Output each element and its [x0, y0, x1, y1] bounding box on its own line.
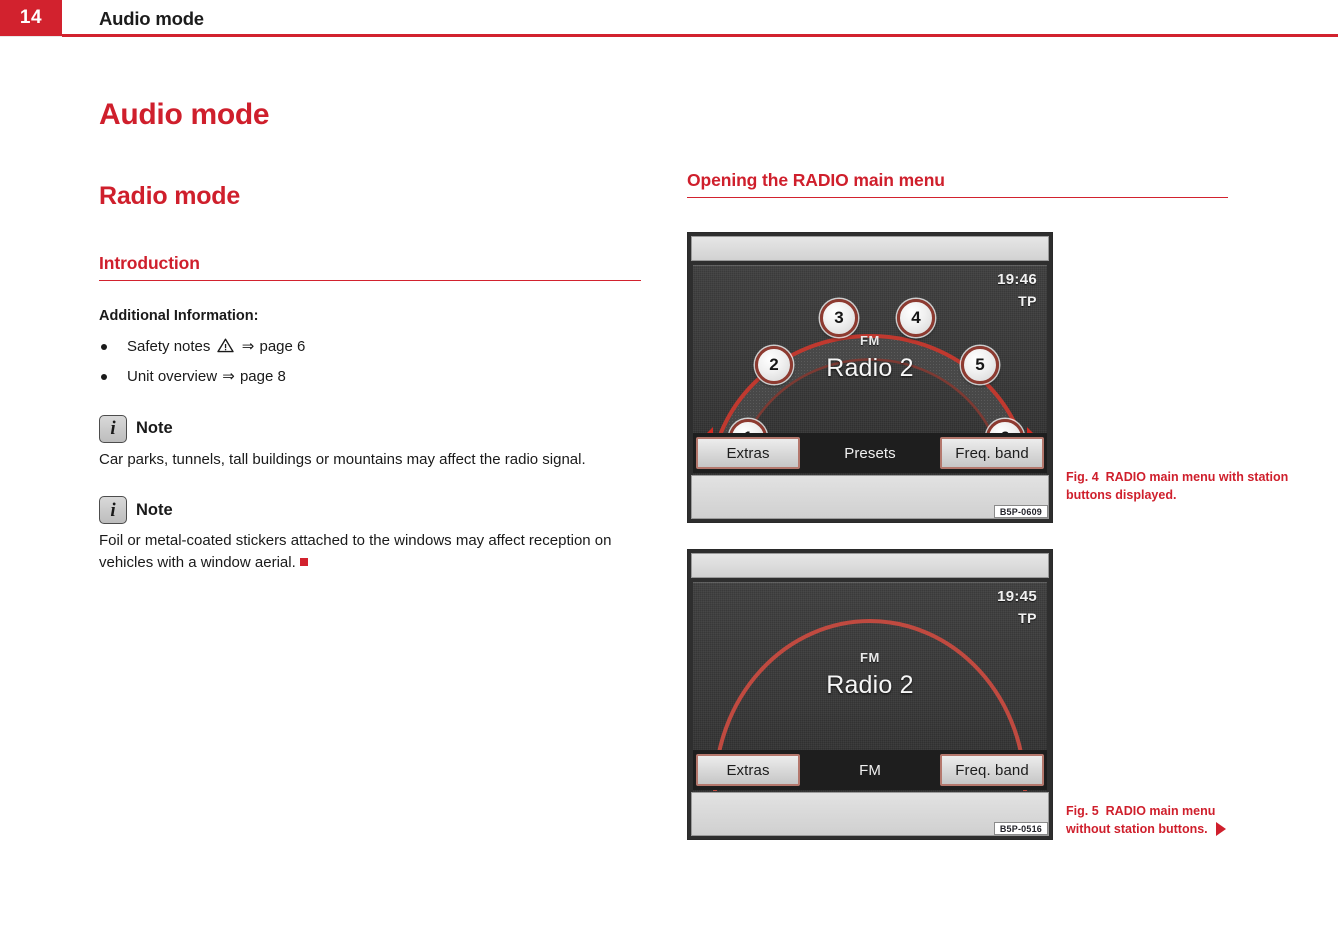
- info-note-icon: i: [99, 496, 127, 524]
- subsection-title-introduction: Introduction: [99, 255, 641, 281]
- preset-button-3[interactable]: 3: [820, 299, 858, 337]
- tp-indicator: TP: [1018, 610, 1037, 626]
- list-item: Safety notes ⇒ page 6: [99, 335, 647, 360]
- figure-radio-main-menu-without-presets: 19:45 TP FM Radio 2 Extras FM Freq. band…: [687, 549, 1053, 840]
- subsection-title-opening-radio-main-menu: Opening the RADIO main menu: [687, 172, 1228, 198]
- figure-radio-main-menu-with-presets: 19:46 TP FM Radio 2 1 2 3 4 5 6 Extras P…: [687, 232, 1053, 523]
- right-column: Opening the RADIO main menu: [687, 172, 1247, 198]
- section-title: Radio mode: [99, 184, 647, 209]
- radio-device-bezel: 19:46 TP FM Radio 2 1 2 3 4 5 6 Extras P…: [687, 232, 1053, 523]
- section-end-marker-icon: [300, 558, 308, 566]
- figure-caption-text-line2: without station buttons.: [1066, 822, 1208, 836]
- chapter-title: Audio mode: [99, 100, 647, 130]
- additional-information-label: Additional Information:: [99, 307, 647, 327]
- list-item: Unit overview ⇒ page 8: [99, 365, 647, 388]
- bullet-text: Safety notes: [127, 338, 210, 355]
- band-label: FM: [693, 333, 1047, 348]
- page-number-badge: 14: [0, 0, 62, 36]
- preset-button-2[interactable]: 2: [755, 346, 793, 384]
- soft-button-freq-band[interactable]: Freq. band: [940, 437, 1044, 469]
- header-rule: [62, 34, 1338, 37]
- note-label: Note: [136, 501, 173, 520]
- band-label: FM: [693, 650, 1047, 665]
- figure-code-tag: B5P-0609: [994, 505, 1048, 518]
- bullet-dot-icon: [101, 344, 107, 350]
- soft-button-freq-band[interactable]: Freq. band: [940, 754, 1044, 786]
- soft-bar-center-label: Presets: [803, 445, 937, 462]
- note-heading: i Note: [99, 496, 647, 524]
- continuation-arrow-icon: [1216, 822, 1226, 836]
- soft-button-bar: Extras FM Freq. band: [693, 750, 1047, 790]
- bullet-dot-icon: [101, 374, 107, 380]
- tp-indicator: TP: [1018, 293, 1037, 309]
- note-heading: i Note: [99, 415, 647, 443]
- figure-code-tag: B5P-0516: [994, 822, 1048, 835]
- warning-triangle-icon: [217, 337, 234, 360]
- preset-button-5[interactable]: 5: [961, 346, 999, 384]
- note-body: Foil or metal-coated stickers attached t…: [99, 530, 647, 574]
- double-arrow-icon: ⇒: [241, 338, 256, 355]
- note-block-2: i Note Foil or metal-coated stickers att…: [99, 496, 647, 574]
- figure-caption-5: Fig. 5RADIO main menu without station bu…: [1066, 802, 1316, 838]
- note-body-text: Foil or metal-coated stickers attached t…: [99, 532, 611, 571]
- note-body: Car parks, tunnels, tall buildings or mo…: [99, 449, 647, 471]
- figure-caption-4: Fig. 4RADIO main menu with station butto…: [1066, 468, 1316, 504]
- double-arrow-icon: ⇒: [221, 368, 236, 385]
- preset-button-4[interactable]: 4: [897, 299, 935, 337]
- clock-display: 19:45: [997, 588, 1037, 605]
- figure-caption-text: RADIO main menu with station buttons dis…: [1066, 470, 1288, 502]
- station-name-display: Radio 2: [693, 671, 1047, 700]
- figure-number: Fig. 4: [1066, 470, 1099, 484]
- figure-number: Fig. 5: [1066, 804, 1099, 818]
- figure-caption-text-line1: RADIO main menu: [1106, 804, 1216, 818]
- bullet-page-reference[interactable]: page 6: [259, 338, 305, 355]
- additional-information-list: Safety notes ⇒ page 6 Unit overview ⇒ pa…: [99, 335, 647, 389]
- left-column: Audio mode Radio mode Introduction Addit…: [99, 100, 647, 574]
- soft-button-extras[interactable]: Extras: [696, 754, 800, 786]
- bullet-page-reference[interactable]: page 8: [240, 368, 286, 385]
- info-note-icon: i: [99, 415, 127, 443]
- soft-bar-center-label: FM: [803, 762, 937, 779]
- soft-button-extras[interactable]: Extras: [696, 437, 800, 469]
- device-top-strip: [691, 553, 1049, 578]
- radio-device-bezel: 19:45 TP FM Radio 2 Extras FM Freq. band…: [687, 549, 1053, 840]
- running-header-title: Audio mode: [99, 8, 204, 30]
- device-top-strip: [691, 236, 1049, 261]
- note-block-1: i Note Car parks, tunnels, tall building…: [99, 415, 647, 471]
- soft-button-bar: Extras Presets Freq. band: [693, 433, 1047, 473]
- page-header: 14 Audio mode: [0, 0, 1338, 38]
- clock-display: 19:46: [997, 271, 1037, 288]
- note-label: Note: [136, 419, 173, 438]
- bullet-text: Unit overview: [127, 368, 217, 385]
